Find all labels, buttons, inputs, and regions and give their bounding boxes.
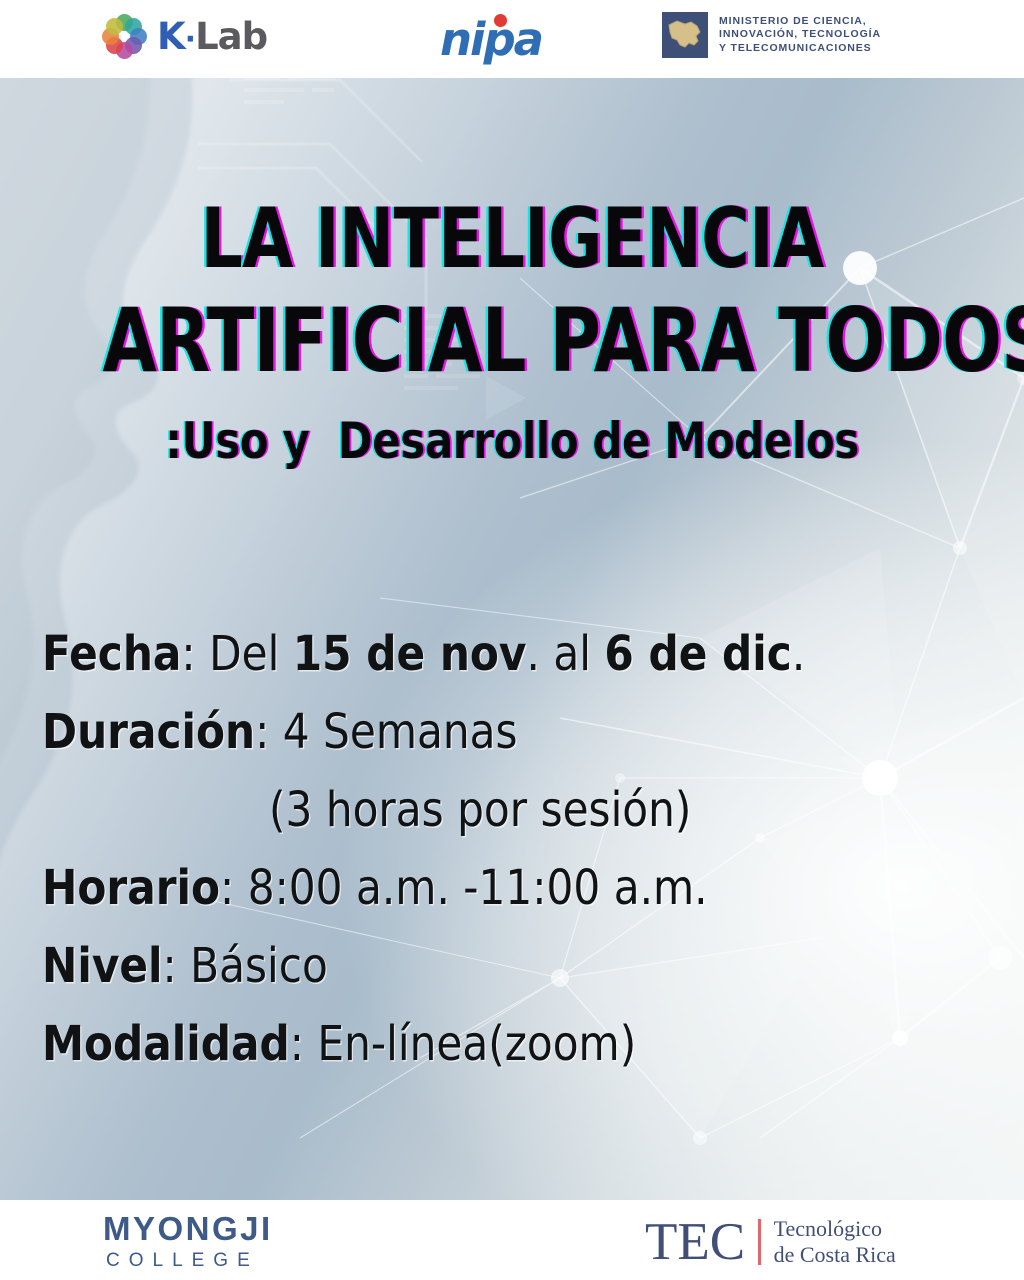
tec-wordmark: TEC [645,1214,745,1270]
klab-emblem-icon [100,12,148,60]
detail-row: Duración: 4 Semanas [42,693,869,771]
detail-value: 4 Semanas [283,704,518,760]
nipa-logo: nipa [440,14,580,66]
klab-dot-icon: · [185,22,195,57]
myongji-wordmark: MYONGJI [103,1210,273,1248]
detail-label: Horario [42,860,220,916]
tec-subtitle-line-2: de Costa Rica [774,1242,896,1268]
ministerio-line-3: Y TELECOMUNICACIONES [719,42,881,56]
detail-value: . al [526,626,604,682]
sponsor-logo-bar-top: K·Lab nipa MINISTERIO DE CIENCIA, INNOVA… [0,0,1024,78]
klab-logo: K·Lab [100,12,267,60]
detail-value: (3 horas por sesión) [269,782,691,838]
poster-title-block: LA INTELIGENCIA ARTIFICIAL PARA TODOS :U… [0,188,1024,472]
detail-row: Modalidad: En-línea(zoom) [42,1005,869,1083]
detail-value: En-línea(zoom) [317,1016,636,1072]
detail-separator: : [255,704,283,760]
poster-artwork-stage: LA INTELIGENCIA ARTIFICIAL PARA TODOS :U… [0,78,1024,1200]
title-subtitle: :Uso y Desarrollo de Modelos [82,410,942,472]
course-details-list: Fecha: Del 15 de nov. al 6 de dic.Duraci… [42,615,982,1083]
costa-rica-map-shape [667,19,703,51]
detail-row: Fecha: Del 15 de nov. al 6 de dic. [42,615,869,693]
klab-wordmark: K·Lab [157,18,267,55]
detail-value: Del [209,626,293,682]
klab-letters-lab: Lab [195,15,267,58]
detail-value-emphasis: 6 de dic [604,626,791,682]
detail-value: Básico [190,938,328,994]
detail-value-emphasis: 15 de nov [293,626,527,682]
ministerio-line-1: MINISTERIO DE CIENCIA, [719,15,881,29]
tec-subtitle-line-1: Tecnológico [774,1216,896,1242]
detail-value: 8:00 a.m. -11:00 a.m. [248,860,708,916]
detail-row: (3 horas por sesión) [42,771,869,849]
myongji-college-logo: MYONGJI COLLEGE [103,1210,273,1274]
costa-rica-map-icon [662,12,708,58]
ministerio-logo: MINISTERIO DE CIENCIA, INNOVACIÓN, TECNO… [662,12,881,58]
nipa-wordmark: nipa [440,14,580,66]
nipa-dot-icon [494,14,507,27]
myongji-subtitle: COLLEGE [103,1248,273,1274]
detail-separator: : [162,938,190,994]
poster-root: K·Lab nipa MINISTERIO DE CIENCIA, INNOVA… [0,0,1024,1280]
klab-letter-k: K [157,15,185,58]
title-line-1: LA INTELIGENCIA [102,188,921,290]
detail-label: Fecha [42,626,181,682]
detail-separator: : [290,1016,318,1072]
klab-petal-7 [106,18,123,35]
detail-label: Duración [42,704,255,760]
detail-separator: : [181,626,209,682]
detail-row: Nivel: Básico [42,927,869,1005]
sponsor-logo-bar-bottom: MYONGJI COLLEGE TEC Tecnológico de Costa… [0,1200,1024,1280]
ministerio-wordmark: MINISTERIO DE CIENCIA, INNOVACIÓN, TECNO… [719,15,881,56]
detail-row: Horario: 8:00 a.m. -11:00 a.m. [42,849,869,927]
tec-divider [758,1219,761,1265]
tec-logo: TEC Tecnológico de Costa Rica [645,1214,896,1270]
title-line-2: ARTIFICIAL PARA TODOS [102,290,921,392]
tec-subtitle: Tecnológico de Costa Rica [774,1216,896,1268]
ministerio-line-2: INNOVACIÓN, TECNOLOGÍA [719,28,881,42]
detail-value: . [792,626,805,682]
detail-label: Modalidad [42,1016,290,1072]
detail-label: Nivel [42,938,162,994]
detail-separator: : [220,860,248,916]
